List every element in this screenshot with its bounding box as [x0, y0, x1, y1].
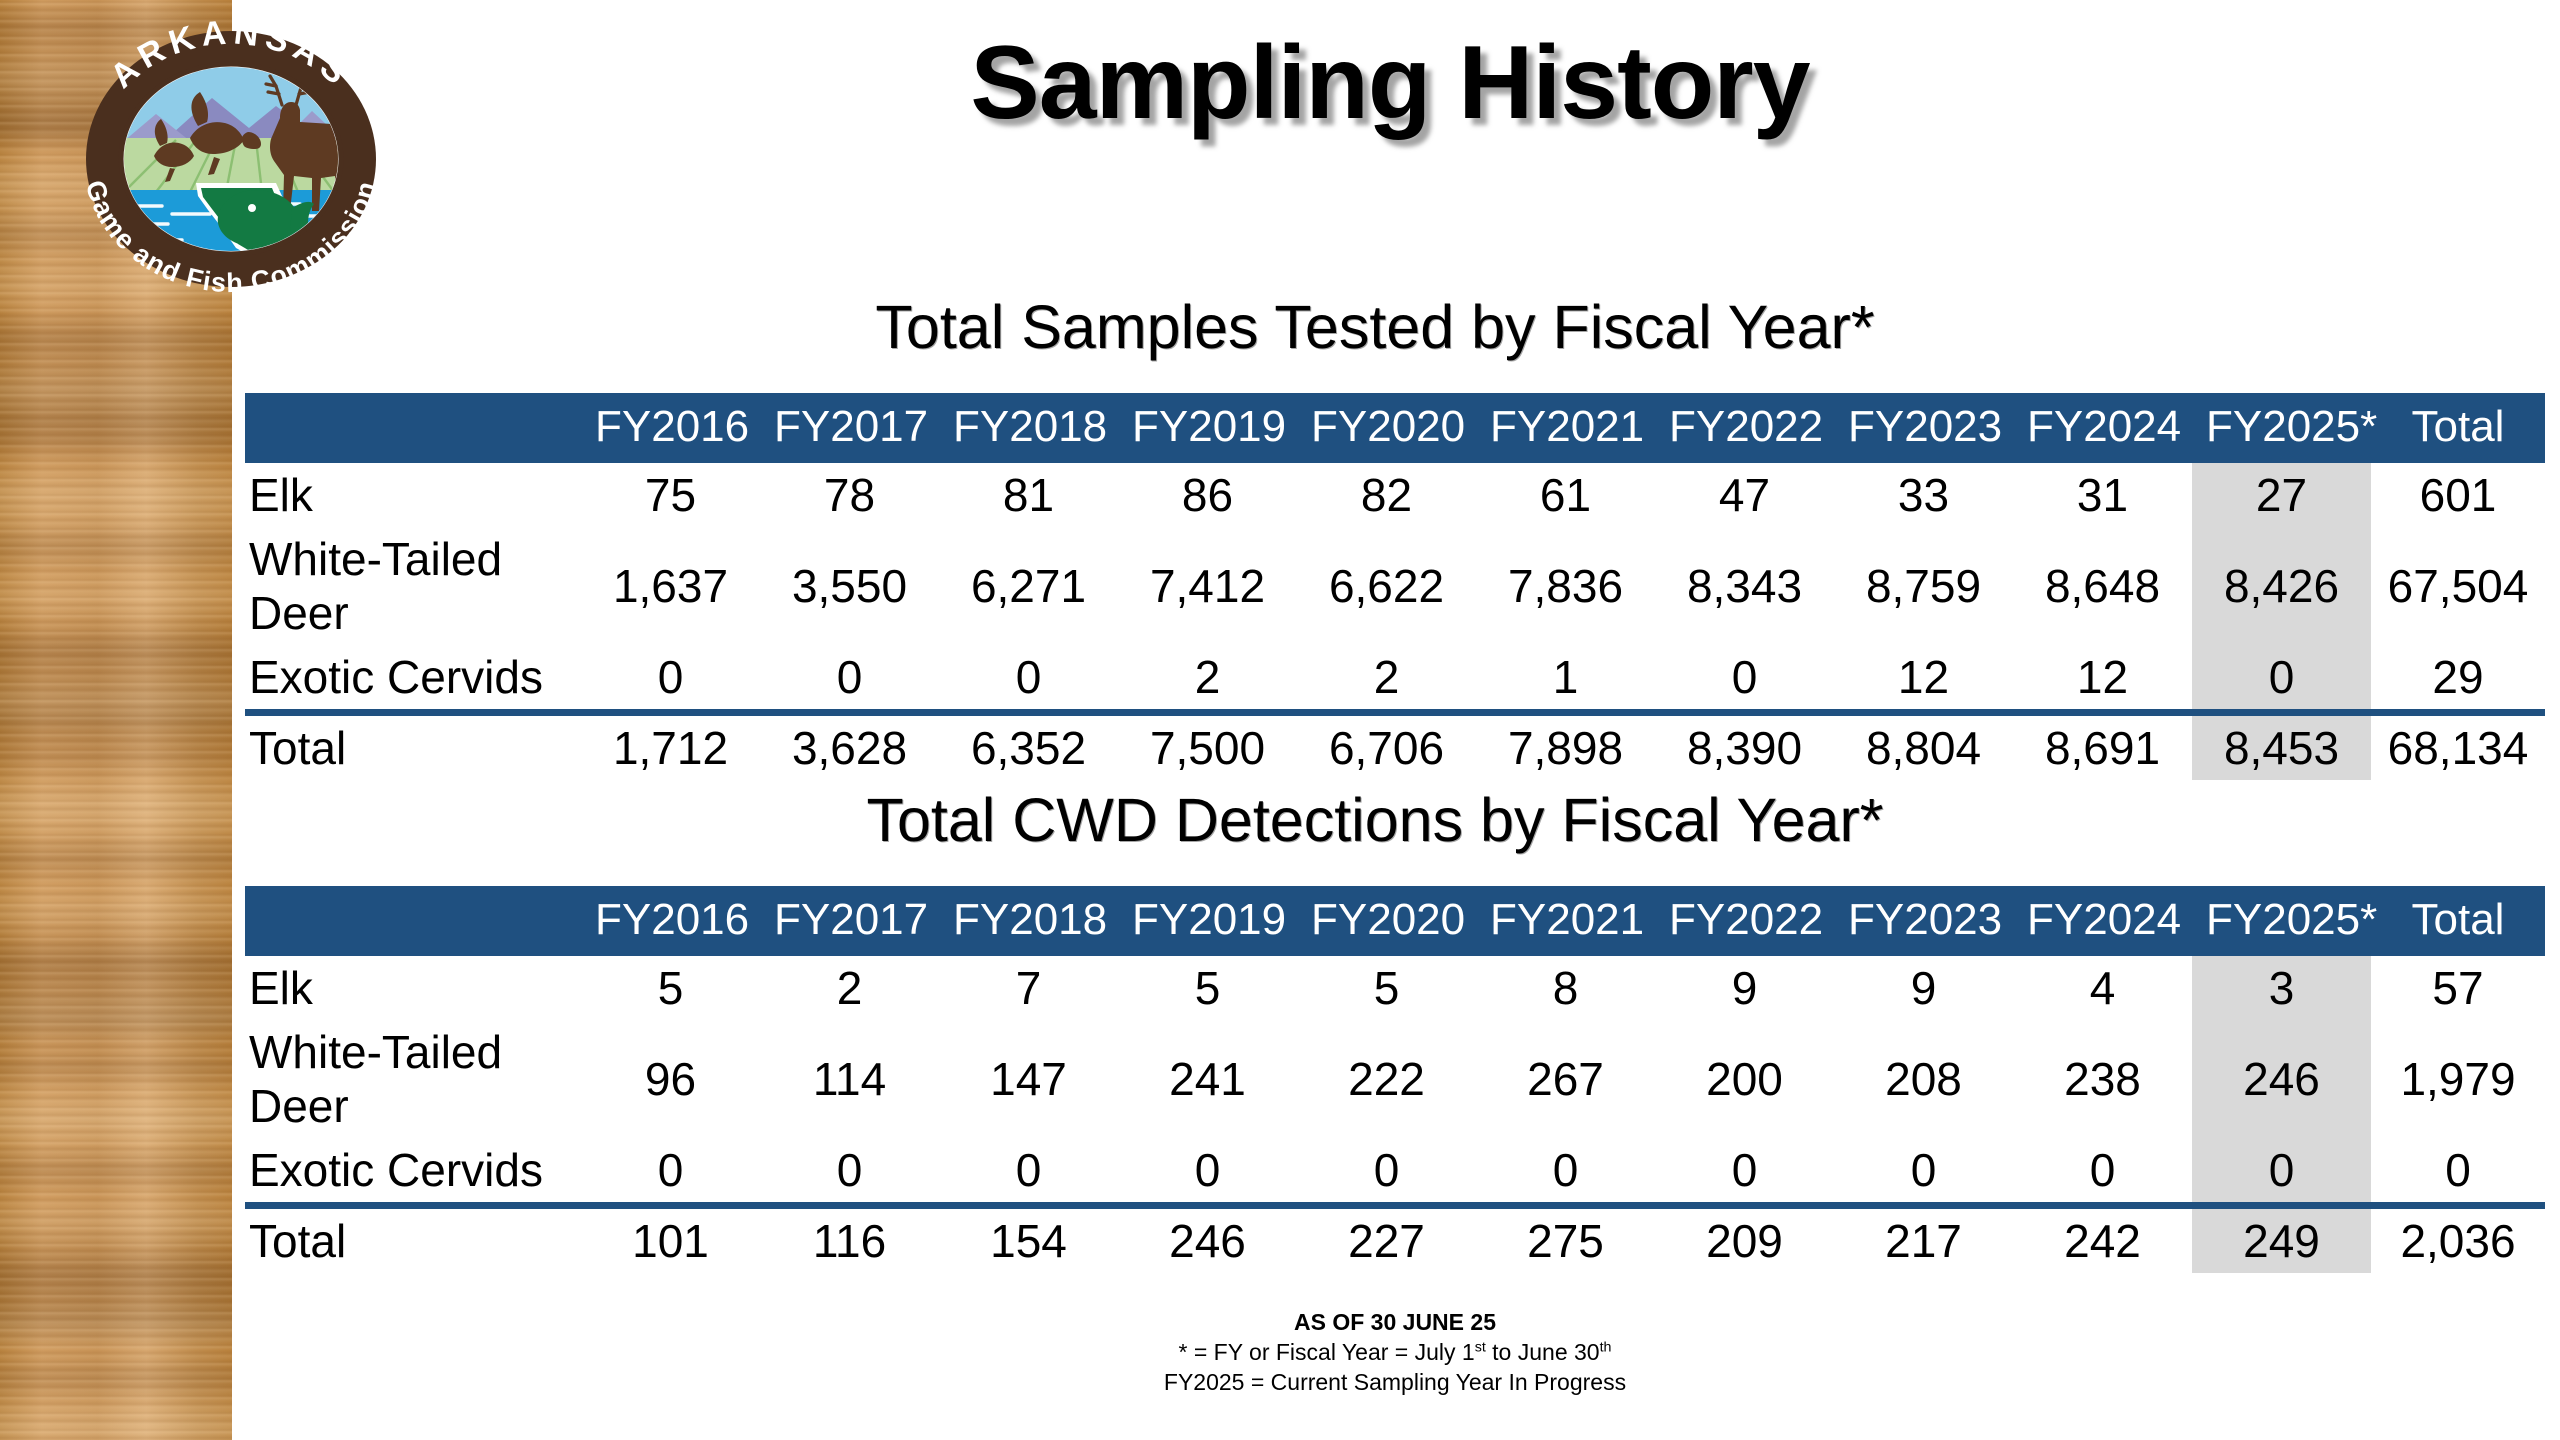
cell-total-fy2020: 227	[1297, 1206, 1476, 1274]
footnote-fy-definition-pre: * = FY or Fiscal Year = July 1	[1179, 1339, 1475, 1365]
row-label-elk: Elk	[245, 956, 581, 1020]
cell-elk-fy2022: 47	[1655, 463, 1834, 527]
cell-total-fy2019: 7,500	[1118, 713, 1297, 781]
footnote-ordinal-th: th	[1600, 1339, 1612, 1355]
cell-exotic-fy2021: 0	[1476, 1138, 1655, 1206]
column-header-fy2021: FY2021	[1476, 393, 1655, 463]
table-row: Exotic Cervids 0 0 0 2 2 1 0 12 12 0 29	[245, 645, 2545, 713]
cell-elk-total: 601	[2371, 463, 2545, 527]
table-row: White-Tailed Deer 1,637 3,550 6,271 7,41…	[245, 527, 2545, 645]
cell-elk-fy2018: 7	[939, 956, 1118, 1020]
column-header-fy2018: FY2018	[939, 393, 1118, 463]
cell-total-fy2018: 154	[939, 1206, 1118, 1274]
row-label-white-tailed-deer: White-Tailed Deer	[245, 527, 581, 645]
footnote-current-year: FY2025 = Current Sampling Year In Progre…	[245, 1368, 2545, 1398]
cell-wtd-fy2021: 267	[1476, 1020, 1655, 1138]
table-total-row: Total 1,712 3,628 6,352 7,500 6,706 7,89…	[245, 713, 2545, 781]
section-heading-detections: Total CWD Detections by Fiscal Year*	[245, 785, 2505, 855]
column-header-fy2022: FY2022	[1655, 886, 1834, 956]
row-label-total: Total	[245, 1206, 581, 1274]
column-header-total: Total	[2371, 886, 2545, 956]
cell-wtd-fy2024: 8,648	[2013, 527, 2192, 645]
cell-exotic-fy2023: 0	[1834, 1138, 2013, 1206]
column-header-fy2020: FY2020	[1297, 393, 1476, 463]
cell-wtd-fy2023: 208	[1834, 1020, 2013, 1138]
cell-wtd-fy2023: 8,759	[1834, 527, 2013, 645]
table-header-row: FY2016 FY2017 FY2018 FY2019 FY2020 FY202…	[245, 886, 2545, 956]
agfc-logo: ARKANSAS Game and Fish Commission	[44, 10, 418, 308]
total-samples-tested-table: FY2016 FY2017 FY2018 FY2019 FY2020 FY202…	[245, 393, 2545, 780]
cell-exotic-fy2019: 2	[1118, 645, 1297, 713]
column-header-fy2018: FY2018	[939, 886, 1118, 956]
table-row: Elk 75 78 81 86 82 61 47 33 31 27 601	[245, 463, 2545, 527]
column-header-fy2017: FY2017	[760, 886, 939, 956]
cell-exotic-fy2020: 2	[1297, 645, 1476, 713]
cell-wtd-fy2024: 238	[2013, 1020, 2192, 1138]
table-row: Exotic Cervids 0 0 0 0 0 0 0 0 0 0 0	[245, 1138, 2545, 1206]
cell-elk-fy2018: 81	[939, 463, 1118, 527]
column-header-fy2022: FY2022	[1655, 393, 1834, 463]
cell-wtd-fy2021: 7,836	[1476, 527, 1655, 645]
cell-total-fy2024: 8,691	[2013, 713, 2192, 781]
column-header-fy2019: FY2019	[1118, 393, 1297, 463]
row-label-elk: Elk	[245, 463, 581, 527]
cell-wtd-fy2016: 1,637	[581, 527, 760, 645]
column-header-fy2016: FY2016	[581, 393, 760, 463]
cell-exotic-fy2022: 0	[1655, 645, 1834, 713]
column-header-label	[245, 886, 581, 956]
cell-elk-fy2020: 82	[1297, 463, 1476, 527]
row-label-white-tailed-deer: White-Tailed Deer	[245, 1020, 581, 1138]
column-header-fy2023: FY2023	[1834, 393, 2013, 463]
cell-exotic-fy2023: 12	[1834, 645, 2013, 713]
cell-exotic-fy2016: 0	[581, 1138, 760, 1206]
cell-exotic-fy2016: 0	[581, 645, 760, 713]
cell-wtd-fy2017: 114	[760, 1020, 939, 1138]
row-label-total: Total	[245, 713, 581, 781]
cell-elk-fy2020: 5	[1297, 956, 1476, 1020]
column-header-fy2019: FY2019	[1118, 886, 1297, 956]
table-body: Elk 5 2 7 5 5 8 9 9 4 3 57 White-Tailed …	[245, 956, 2545, 1273]
footnotes: AS OF 30 JUNE 25 * = FY or Fiscal Year =…	[245, 1308, 2545, 1398]
cell-total-fy2017: 3,628	[760, 713, 939, 781]
total-cwd-detections-table: FY2016 FY2017 FY2018 FY2019 FY2020 FY202…	[245, 886, 2545, 1273]
section-heading-samples: Total Samples Tested by Fiscal Year*	[245, 292, 2505, 362]
cell-wtd-fy2025: 246	[2192, 1020, 2371, 1138]
column-header-fy2016: FY2016	[581, 886, 760, 956]
cell-total-fy2022: 209	[1655, 1206, 1834, 1274]
cell-wtd-fy2022: 200	[1655, 1020, 1834, 1138]
cell-elk-fy2019: 86	[1118, 463, 1297, 527]
cell-elk-fy2022: 9	[1655, 956, 1834, 1020]
cell-wtd-fy2018: 6,271	[939, 527, 1118, 645]
cell-total-fy2016: 101	[581, 1206, 760, 1274]
cell-total-fy2022: 8,390	[1655, 713, 1834, 781]
cell-elk-fy2019: 5	[1118, 956, 1297, 1020]
cell-wtd-fy2025: 8,426	[2192, 527, 2371, 645]
cell-exotic-fy2025: 0	[2192, 645, 2371, 713]
cell-wtd-fy2017: 3,550	[760, 527, 939, 645]
table-header: FY2016 FY2017 FY2018 FY2019 FY2020 FY202…	[245, 393, 2545, 463]
column-header-fy2017: FY2017	[760, 393, 939, 463]
cell-total-fy2017: 116	[760, 1206, 939, 1274]
column-header-fy2025: FY2025*	[2192, 886, 2371, 956]
cell-total-total: 2,036	[2371, 1206, 2545, 1274]
cell-elk-fy2017: 2	[760, 956, 939, 1020]
cell-total-fy2023: 217	[1834, 1206, 2013, 1274]
row-label-exotic-cervids: Exotic Cervids	[245, 645, 581, 713]
cell-total-fy2025: 8,453	[2192, 713, 2371, 781]
table-row: White-Tailed Deer 96 114 147 241 222 267…	[245, 1020, 2545, 1138]
cell-wtd-fy2019: 241	[1118, 1020, 1297, 1138]
cell-elk-fy2017: 78	[760, 463, 939, 527]
cell-elk-fy2021: 8	[1476, 956, 1655, 1020]
cell-wtd-total: 1,979	[2371, 1020, 2545, 1138]
cell-elk-fy2016: 75	[581, 463, 760, 527]
cell-wtd-fy2018: 147	[939, 1020, 1118, 1138]
cell-exotic-fy2017: 0	[760, 645, 939, 713]
cell-wtd-fy2020: 6,622	[1297, 527, 1476, 645]
column-header-total: Total	[2371, 393, 2545, 463]
cell-exotic-fy2018: 0	[939, 1138, 1118, 1206]
cell-exotic-fy2024: 12	[2013, 645, 2192, 713]
cell-exotic-fy2019: 0	[1118, 1138, 1297, 1206]
cell-exotic-fy2022: 0	[1655, 1138, 1834, 1206]
cell-total-total: 68,134	[2371, 713, 2545, 781]
cell-exotic-fy2017: 0	[760, 1138, 939, 1206]
footnote-as-of: AS OF 30 JUNE 25	[245, 1308, 2545, 1338]
row-label-exotic-cervids: Exotic Cervids	[245, 1138, 581, 1206]
table-total-row: Total 101 116 154 246 227 275 209 217 24…	[245, 1206, 2545, 1274]
column-header-fy2021: FY2021	[1476, 886, 1655, 956]
cell-elk-fy2024: 4	[2013, 956, 2192, 1020]
cell-elk-fy2024: 31	[2013, 463, 2192, 527]
cell-elk-fy2016: 5	[581, 956, 760, 1020]
cell-total-fy2021: 7,898	[1476, 713, 1655, 781]
page-title: Sampling History	[860, 22, 1920, 145]
cell-exotic-total: 0	[2371, 1138, 2545, 1206]
column-header-fy2020: FY2020	[1297, 886, 1476, 956]
cell-total-fy2016: 1,712	[581, 713, 760, 781]
cell-total-fy2021: 275	[1476, 1206, 1655, 1274]
column-header-label	[245, 393, 581, 463]
cell-elk-fy2025: 3	[2192, 956, 2371, 1020]
cell-exotic-fy2025: 0	[2192, 1138, 2371, 1206]
cell-wtd-fy2019: 7,412	[1118, 527, 1297, 645]
cell-wtd-fy2022: 8,343	[1655, 527, 1834, 645]
column-header-fy2024: FY2024	[2013, 393, 2192, 463]
cell-wtd-total: 67,504	[2371, 527, 2545, 645]
table-row: Elk 5 2 7 5 5 8 9 9 4 3 57	[245, 956, 2545, 1020]
cell-total-fy2018: 6,352	[939, 713, 1118, 781]
cell-wtd-fy2020: 222	[1297, 1020, 1476, 1138]
column-header-fy2025: FY2025*	[2192, 393, 2371, 463]
cell-exotic-fy2020: 0	[1297, 1138, 1476, 1206]
footnote-fy-definition: * = FY or Fiscal Year = July 1st to June…	[245, 1338, 2545, 1368]
footnote-fy-definition-mid: to June 30	[1486, 1339, 1600, 1365]
cell-total-fy2025: 249	[2192, 1206, 2371, 1274]
cell-elk-fy2025: 27	[2192, 463, 2371, 527]
cell-elk-fy2023: 33	[1834, 463, 2013, 527]
cell-total-fy2020: 6,706	[1297, 713, 1476, 781]
footnote-ordinal-st: st	[1475, 1339, 1486, 1355]
cell-exotic-fy2021: 1	[1476, 645, 1655, 713]
cell-total-fy2024: 242	[2013, 1206, 2192, 1274]
cell-exotic-fy2024: 0	[2013, 1138, 2192, 1206]
cell-elk-total: 57	[2371, 956, 2545, 1020]
cell-wtd-fy2016: 96	[581, 1020, 760, 1138]
cell-exotic-fy2018: 0	[939, 645, 1118, 713]
column-header-fy2023: FY2023	[1834, 886, 2013, 956]
column-header-fy2024: FY2024	[2013, 886, 2192, 956]
cell-elk-fy2023: 9	[1834, 956, 2013, 1020]
cell-elk-fy2021: 61	[1476, 463, 1655, 527]
detections-table-container: FY2016 FY2017 FY2018 FY2019 FY2020 FY202…	[245, 886, 2545, 1273]
samples-table-container: FY2016 FY2017 FY2018 FY2019 FY2020 FY202…	[245, 393, 2545, 780]
cell-exotic-total: 29	[2371, 645, 2545, 713]
table-body: Elk 75 78 81 86 82 61 47 33 31 27 601 Wh…	[245, 463, 2545, 780]
cell-total-fy2019: 246	[1118, 1206, 1297, 1274]
table-header: FY2016 FY2017 FY2018 FY2019 FY2020 FY202…	[245, 886, 2545, 956]
table-header-row: FY2016 FY2017 FY2018 FY2019 FY2020 FY202…	[245, 393, 2545, 463]
cell-total-fy2023: 8,804	[1834, 713, 2013, 781]
